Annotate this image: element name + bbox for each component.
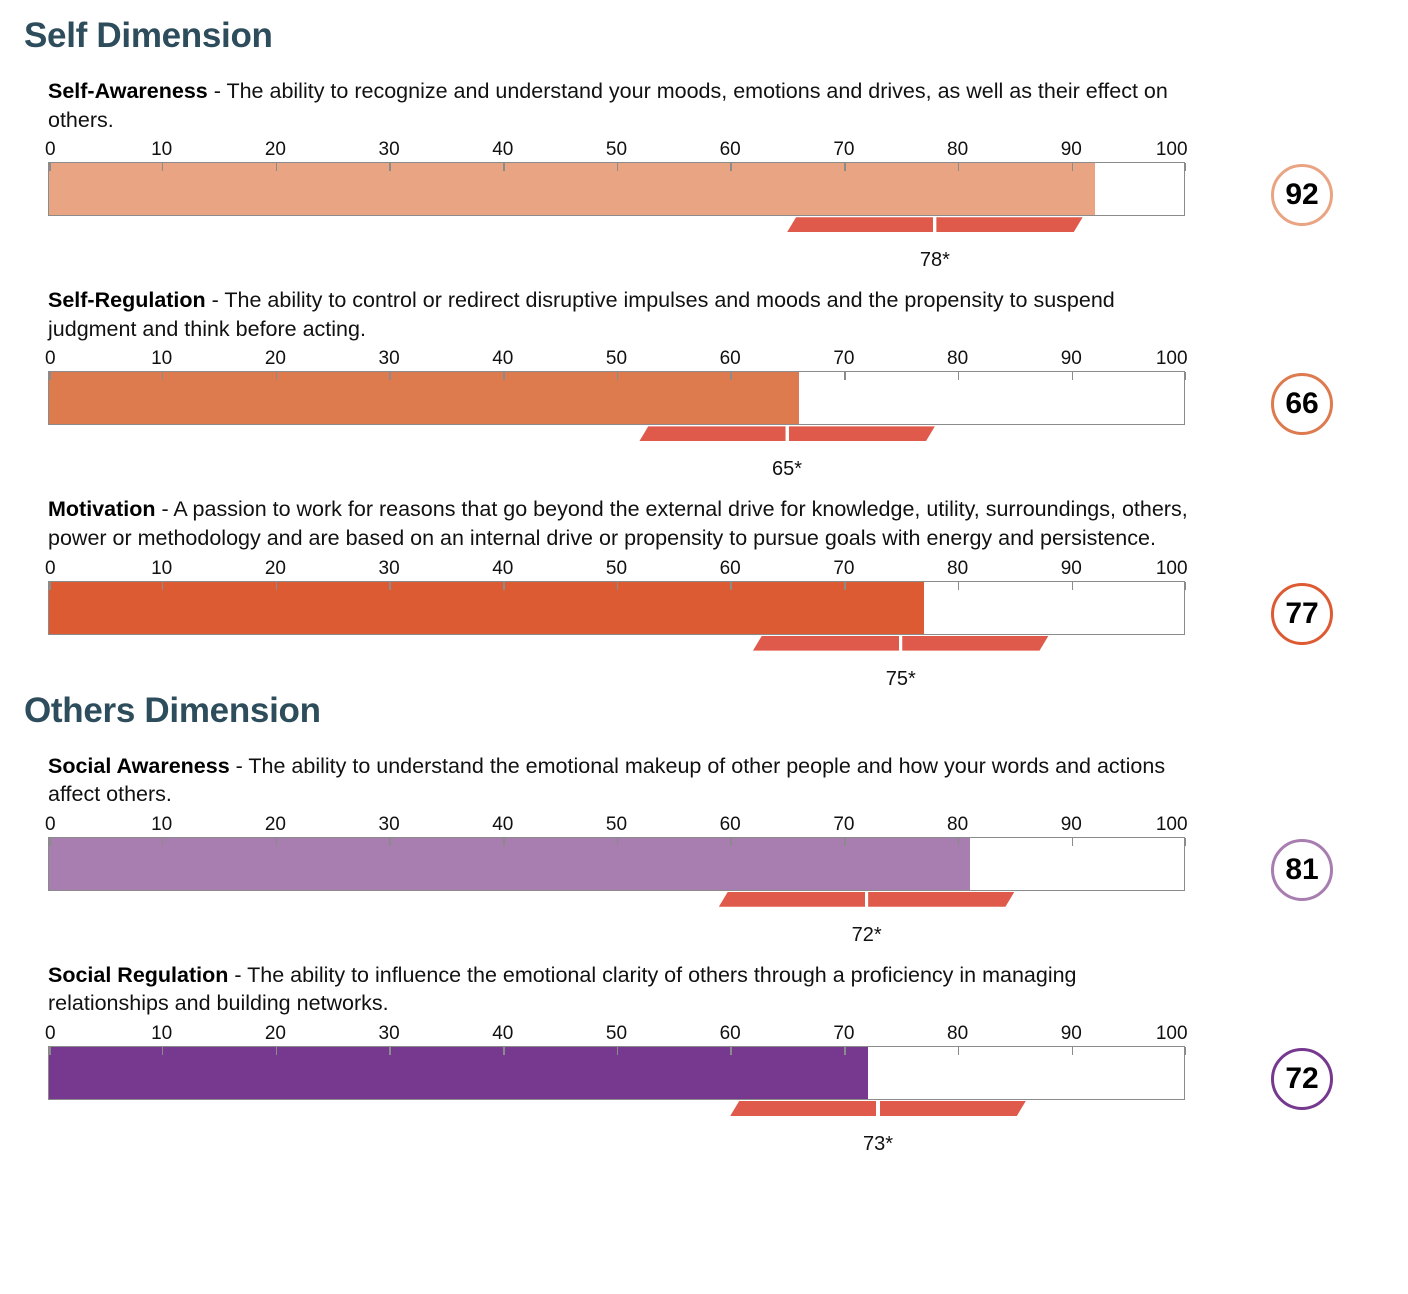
axis-tick: [958, 163, 960, 171]
benchmark-marker-row: [48, 891, 1185, 907]
axis-tick-label: 10: [151, 815, 172, 834]
axis-tick-label: 10: [151, 1024, 172, 1043]
competency-name: Social Regulation: [48, 963, 228, 987]
axis-tick: [1185, 838, 1187, 846]
benchmark-marker: [639, 426, 935, 441]
axis-tick-label: 90: [1061, 140, 1082, 159]
axis-tick: [389, 1047, 391, 1055]
competency-description: Self-Awareness - The ability to recogniz…: [48, 77, 1198, 134]
score-bar: [49, 1047, 868, 1099]
axis-tick: [1072, 372, 1074, 380]
competency-name: Social Awareness: [48, 754, 230, 778]
competency-chart-row: 010203040506070809010078*92: [48, 140, 1408, 262]
chart-area: 010203040506070809010072*: [48, 815, 1185, 937]
score-bar: [49, 838, 970, 890]
axis-tick-label: 90: [1061, 559, 1082, 578]
axis-tick: [958, 372, 960, 380]
axis-tick-label: 30: [379, 815, 400, 834]
competency-separator: -: [156, 497, 174, 521]
benchmark-marker-right: [936, 217, 1082, 232]
axis-tick: [503, 582, 505, 590]
axis-tick: [844, 372, 846, 380]
axis-tick: [1072, 838, 1074, 846]
axis-tick-label: 90: [1061, 815, 1082, 834]
axis-tick: [958, 1047, 960, 1055]
competency-social-regulation: Social Regulation - The ability to influ…: [0, 961, 1408, 1146]
axis-tick-label: 50: [606, 349, 627, 368]
axis-tick-label: 20: [265, 559, 286, 578]
axis-tick-label: 30: [379, 140, 400, 159]
axis-tick-label: 60: [720, 815, 741, 834]
score-track: [48, 1046, 1185, 1100]
benchmark-marker: [719, 892, 1015, 907]
chart-area: 010203040506070809010065*: [48, 349, 1185, 471]
benchmark-marker-left: [787, 217, 933, 232]
axis-tick-label: 0: [45, 559, 56, 578]
competency-motivation: Motivation - A passion to work for reaso…: [0, 495, 1408, 680]
axis-tick: [844, 163, 846, 171]
benchmark-label-row: 72*: [48, 907, 1185, 937]
chart-area: 010203040506070809010075*: [48, 559, 1185, 681]
axis-tick: [276, 1047, 278, 1055]
axis-tick-label: 70: [833, 140, 854, 159]
axis-tick-label: 40: [492, 559, 513, 578]
axis-tick: [503, 838, 505, 846]
axis-tick-label: 40: [492, 140, 513, 159]
axis-tick-label: 100: [1156, 1024, 1188, 1043]
axis-tick: [162, 838, 164, 846]
benchmark-marker: [753, 636, 1049, 651]
axis-tick: [617, 163, 619, 171]
axis-tick-label: 20: [265, 349, 286, 368]
benchmark-marker-left: [639, 426, 785, 441]
competency-separator: -: [206, 288, 225, 312]
axis-tick-label: 50: [606, 140, 627, 159]
track-wrap: [48, 371, 1185, 425]
axis-tick-label: 10: [151, 349, 172, 368]
axis-tick-label: 10: [151, 140, 172, 159]
competency-name: Self-Regulation: [48, 288, 206, 312]
benchmark-marker-row: [48, 635, 1185, 651]
x-axis-labels: 0102030405060708090100: [48, 349, 1185, 371]
section-others-dimension: Others DimensionSocial Awareness - The a…: [0, 681, 1408, 1146]
competency-chart-row: 010203040506070809010075*77: [48, 559, 1408, 681]
axis-tick-label: 40: [492, 349, 513, 368]
benchmark-marker-left: [730, 1101, 876, 1116]
axis-tick: [1072, 1047, 1074, 1055]
axis-tick-label: 70: [833, 815, 854, 834]
axis-tick: [49, 1047, 51, 1055]
benchmark-value-label: 73*: [863, 1133, 893, 1155]
benchmark-marker: [730, 1101, 1026, 1116]
track-wrap: [48, 1046, 1185, 1100]
benchmark-marker-left: [753, 636, 899, 651]
competency-chart-row: 010203040506070809010065*66: [48, 349, 1408, 471]
axis-tick: [958, 838, 960, 846]
x-axis-labels: 0102030405060708090100: [48, 815, 1185, 837]
chart-area: 010203040506070809010073*: [48, 1024, 1185, 1146]
score-bar: [49, 163, 1095, 215]
score-badge: 92: [1271, 164, 1333, 226]
axis-tick: [503, 1047, 505, 1055]
axis-tick-label: 90: [1061, 1024, 1082, 1043]
benchmark-marker-right: [868, 892, 1014, 907]
x-axis-labels: 0102030405060708090100: [48, 559, 1185, 581]
score-badge: 66: [1271, 373, 1333, 435]
benchmark-value-label: 78*: [920, 249, 950, 271]
axis-tick: [844, 582, 846, 590]
axis-tick: [389, 163, 391, 171]
axis-tick: [730, 372, 732, 380]
axis-tick: [1072, 582, 1074, 590]
competency-description: Social Regulation - The ability to influ…: [48, 961, 1198, 1018]
benchmark-marker-right: [902, 636, 1048, 651]
track-wrap: [48, 581, 1185, 635]
x-axis-labels: 0102030405060708090100: [48, 140, 1185, 162]
axis-tick: [389, 838, 391, 846]
axis-tick: [730, 163, 732, 171]
competency-separator: -: [228, 963, 247, 987]
axis-tick: [276, 582, 278, 590]
axis-tick: [617, 582, 619, 590]
axis-tick-label: 80: [947, 815, 968, 834]
score-track: [48, 581, 1185, 635]
axis-tick: [49, 838, 51, 846]
score-track: [48, 162, 1185, 216]
axis-tick-label: 30: [379, 349, 400, 368]
axis-tick-label: 70: [833, 349, 854, 368]
track-wrap: [48, 162, 1185, 216]
competency-chart-row: 010203040506070809010072*81: [48, 815, 1408, 937]
axis-tick-label: 90: [1061, 349, 1082, 368]
benchmark-marker-right: [789, 426, 935, 441]
axis-tick-label: 100: [1156, 140, 1188, 159]
benchmark-label-row: 78*: [48, 232, 1185, 262]
axis-tick: [162, 372, 164, 380]
axis-tick: [844, 838, 846, 846]
x-axis-labels: 0102030405060708090100: [48, 1024, 1185, 1046]
benchmark-marker-row: [48, 425, 1185, 441]
axis-tick-label: 40: [492, 1024, 513, 1043]
competency-description-text: A passion to work for reasons that go be…: [48, 497, 1188, 550]
section-title: Self Dimension: [0, 0, 1408, 53]
score-track: [48, 371, 1185, 425]
axis-tick: [1072, 163, 1074, 171]
axis-tick-label: 60: [720, 349, 741, 368]
axis-tick: [389, 372, 391, 380]
axis-tick: [1185, 163, 1187, 171]
axis-tick: [503, 372, 505, 380]
axis-tick-label: 20: [265, 140, 286, 159]
axis-tick: [1185, 582, 1187, 590]
axis-tick: [49, 582, 51, 590]
axis-tick: [276, 838, 278, 846]
benchmark-marker-left: [719, 892, 865, 907]
axis-tick-label: 60: [720, 1024, 741, 1043]
axis-tick-label: 70: [833, 559, 854, 578]
axis-tick-label: 50: [606, 559, 627, 578]
benchmark-value-label: 65*: [772, 458, 802, 480]
axis-tick: [730, 582, 732, 590]
ei-competency-report: Self DimensionSelf-Awareness - The abili…: [0, 0, 1408, 1294]
axis-tick-label: 80: [947, 559, 968, 578]
axis-tick-label: 40: [492, 815, 513, 834]
score-badge: 72: [1271, 1048, 1333, 1110]
competency-name: Motivation: [48, 497, 156, 521]
axis-tick: [617, 1047, 619, 1055]
axis-tick-label: 30: [379, 1024, 400, 1043]
axis-tick-label: 30: [379, 559, 400, 578]
chart-area: 010203040506070809010078*: [48, 140, 1185, 262]
benchmark-label-row: 65*: [48, 441, 1185, 471]
axis-tick: [617, 372, 619, 380]
axis-tick-label: 0: [45, 140, 56, 159]
benchmark-label-row: 75*: [48, 651, 1185, 681]
track-wrap: [48, 837, 1185, 891]
axis-tick: [617, 838, 619, 846]
competency-description: Motivation - A passion to work for reaso…: [48, 495, 1198, 552]
section-self-dimension: Self DimensionSelf-Awareness - The abili…: [0, 0, 1408, 681]
axis-tick: [1185, 372, 1187, 380]
competency-name: Self-Awareness: [48, 79, 208, 103]
axis-tick: [162, 1047, 164, 1055]
axis-tick: [162, 163, 164, 171]
axis-tick: [1185, 1047, 1187, 1055]
benchmark-marker-row: [48, 216, 1185, 232]
axis-tick-label: 100: [1156, 815, 1188, 834]
section-title: Others Dimension: [0, 681, 1408, 728]
axis-tick-label: 80: [947, 349, 968, 368]
axis-tick-label: 20: [265, 1024, 286, 1043]
competency-description: Self-Regulation - The ability to control…: [48, 286, 1198, 343]
axis-tick-label: 100: [1156, 559, 1188, 578]
competency-self-regulation: Self-Regulation - The ability to control…: [0, 286, 1408, 471]
axis-tick-label: 70: [833, 1024, 854, 1043]
axis-tick-label: 50: [606, 1024, 627, 1043]
axis-tick: [730, 838, 732, 846]
benchmark-marker: [787, 217, 1083, 232]
benchmark-marker-row: [48, 1100, 1185, 1116]
axis-tick-label: 10: [151, 559, 172, 578]
score-badge: 81: [1271, 839, 1333, 901]
axis-tick: [276, 163, 278, 171]
axis-tick: [162, 582, 164, 590]
axis-tick: [958, 582, 960, 590]
axis-tick-label: 20: [265, 815, 286, 834]
axis-tick: [49, 163, 51, 171]
axis-tick: [49, 372, 51, 380]
axis-tick-label: 60: [720, 559, 741, 578]
axis-tick: [844, 1047, 846, 1055]
axis-tick: [276, 372, 278, 380]
benchmark-marker-right: [880, 1101, 1026, 1116]
competency-separator: -: [208, 79, 227, 103]
benchmark-value-label: 72*: [852, 924, 882, 946]
competency-self-awareness: Self-Awareness - The ability to recogniz…: [0, 77, 1408, 262]
axis-tick: [389, 582, 391, 590]
axis-tick-label: 0: [45, 815, 56, 834]
axis-tick-label: 0: [45, 349, 56, 368]
axis-tick: [503, 163, 505, 171]
score-bar: [49, 582, 924, 634]
score-badge: 77: [1271, 583, 1333, 645]
score-track: [48, 837, 1185, 891]
competency-separator: -: [230, 754, 249, 778]
axis-tick-label: 80: [947, 140, 968, 159]
axis-tick-label: 100: [1156, 349, 1188, 368]
benchmark-value-label: 75*: [886, 668, 916, 690]
competency-description: Social Awareness - The ability to unders…: [48, 752, 1198, 809]
axis-tick-label: 60: [720, 140, 741, 159]
axis-tick: [730, 1047, 732, 1055]
axis-tick-label: 50: [606, 815, 627, 834]
benchmark-label-row: 73*: [48, 1116, 1185, 1146]
competency-chart-row: 010203040506070809010073*72: [48, 1024, 1408, 1146]
axis-tick-label: 80: [947, 1024, 968, 1043]
competency-social-awareness: Social Awareness - The ability to unders…: [0, 752, 1408, 937]
axis-tick-label: 0: [45, 1024, 56, 1043]
